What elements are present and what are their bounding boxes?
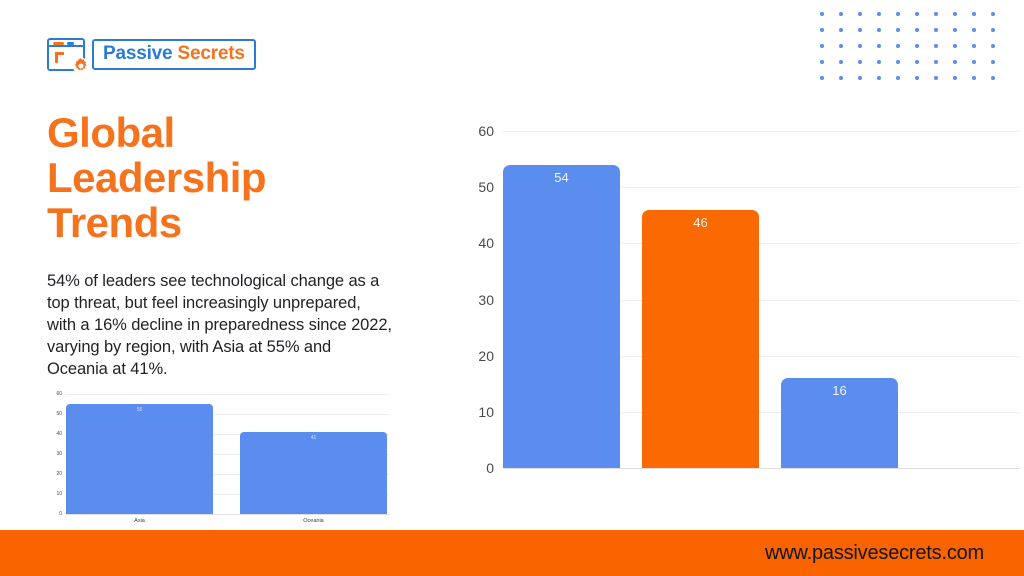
- bar-value-label: 46: [642, 215, 759, 230]
- grid-dot: [858, 60, 862, 64]
- chart-gridline: [503, 131, 1020, 132]
- y-axis-tick-label: 20: [56, 471, 66, 477]
- chart-bar: 41: [240, 432, 387, 514]
- grid-dot: [915, 12, 919, 16]
- grid-dot: [934, 28, 938, 32]
- grid-dot: [991, 28, 995, 32]
- grid-dot: [858, 44, 862, 48]
- grid-dot: [820, 28, 824, 32]
- page-title-line-2: Leadership: [47, 156, 377, 201]
- footer-website-url: www.passivesecrets.com: [765, 542, 984, 565]
- grid-dot: [839, 28, 843, 32]
- chart-bar: 46: [642, 210, 759, 468]
- grid-dot: [991, 44, 995, 48]
- grid-dot: [953, 76, 957, 80]
- chart-main-plot-area: 0102030405060544616: [503, 131, 1020, 468]
- grid-dot: [858, 76, 862, 80]
- grid-dot: [953, 60, 957, 64]
- y-axis-tick-label: 10: [478, 404, 503, 420]
- grid-dot: [858, 28, 862, 32]
- grid-dot: [877, 60, 881, 64]
- grid-dot: [934, 76, 938, 80]
- grid-dot: [991, 76, 995, 80]
- logo-wordmark: Passive Secrets: [92, 39, 256, 70]
- brand-logo: Passive Secrets: [47, 38, 256, 71]
- grid-dot: [915, 76, 919, 80]
- grid-dot: [877, 28, 881, 32]
- x-axis-category-label: Oceania: [303, 514, 324, 524]
- chart-gridline: [66, 394, 389, 395]
- chart-gridline: [66, 514, 389, 515]
- bar-chart-mini: 010203040506055Asia41Oceania: [66, 394, 389, 514]
- grid-dot: [972, 76, 976, 80]
- gear-icon: [72, 57, 90, 75]
- chart-gridline: [503, 468, 1020, 469]
- browser-titlebar-icon-part: [49, 40, 83, 47]
- grid-dot: [972, 44, 976, 48]
- grid-dot: [820, 44, 824, 48]
- y-axis-tick-label: 20: [478, 348, 503, 364]
- grid-dot: [896, 44, 900, 48]
- y-axis-tick-label: 10: [56, 491, 66, 497]
- y-axis-tick-label: 30: [478, 292, 503, 308]
- grid-dot: [953, 44, 957, 48]
- bar-chart-main: 0102030405060544616: [503, 131, 1020, 468]
- grid-dot: [839, 12, 843, 16]
- grid-dot: [896, 60, 900, 64]
- grid-dot: [953, 28, 957, 32]
- page-title-line-3: Trends: [47, 201, 377, 246]
- grid-dot: [915, 60, 919, 64]
- grid-dot: [896, 28, 900, 32]
- chart-bar: 16: [781, 378, 898, 468]
- x-axis-category-label: Asia: [134, 514, 145, 524]
- browser-gear-icon: [47, 38, 85, 71]
- bar-value-label: 16: [781, 383, 898, 398]
- grid-dot: [877, 44, 881, 48]
- grid-dot: [972, 28, 976, 32]
- grid-dot: [972, 60, 976, 64]
- grid-dot: [896, 12, 900, 16]
- footer-bar: www.passivesecrets.com: [0, 530, 1024, 576]
- grid-dot: [972, 12, 976, 16]
- bar-value-label: 54: [503, 170, 620, 185]
- chart-bar: 54: [503, 165, 620, 468]
- y-axis-tick-label: 40: [56, 431, 66, 437]
- grid-dot: [934, 60, 938, 64]
- grid-dot: [839, 60, 843, 64]
- grid-dot: [915, 44, 919, 48]
- body-paragraph: 54% of leaders see technological change …: [47, 271, 392, 381]
- dot-grid-decoration: [812, 6, 1002, 86]
- grid-dot: [953, 12, 957, 16]
- grid-dot: [991, 12, 995, 16]
- corner-bracket-icon-part: [55, 52, 64, 63]
- grid-dot: [839, 76, 843, 80]
- grid-dot: [991, 60, 995, 64]
- grid-dot: [915, 28, 919, 32]
- grid-dot: [934, 12, 938, 16]
- y-axis-tick-label: 50: [478, 179, 503, 195]
- chart-bar: 55: [66, 404, 213, 514]
- grid-dot: [934, 44, 938, 48]
- bar-value-label: 55: [66, 407, 213, 413]
- grid-dot: [877, 12, 881, 16]
- grid-dot: [820, 60, 824, 64]
- y-axis-tick-label: 30: [56, 451, 66, 457]
- grid-dot: [820, 12, 824, 16]
- grid-dot: [839, 44, 843, 48]
- logo-word-passive: Passive: [103, 43, 172, 64]
- grid-dot: [820, 76, 824, 80]
- y-axis-tick-label: 40: [478, 235, 503, 251]
- logo-word-secrets: Secrets: [177, 43, 244, 64]
- page-title-line-1: Global: [47, 111, 377, 156]
- y-axis-tick-label: 0: [59, 511, 66, 517]
- y-axis-tick-label: 60: [56, 391, 66, 397]
- chart-mini-plot-area: 010203040506055Asia41Oceania: [66, 394, 389, 514]
- y-axis-tick-label: 50: [56, 411, 66, 417]
- grid-dot: [877, 76, 881, 80]
- page-title: Global Leadership Trends: [47, 111, 377, 246]
- bar-value-label: 41: [240, 435, 387, 441]
- grid-dot: [858, 12, 862, 16]
- grid-dot: [896, 76, 900, 80]
- y-axis-tick-label: 0: [486, 460, 503, 476]
- y-axis-tick-label: 60: [478, 123, 503, 139]
